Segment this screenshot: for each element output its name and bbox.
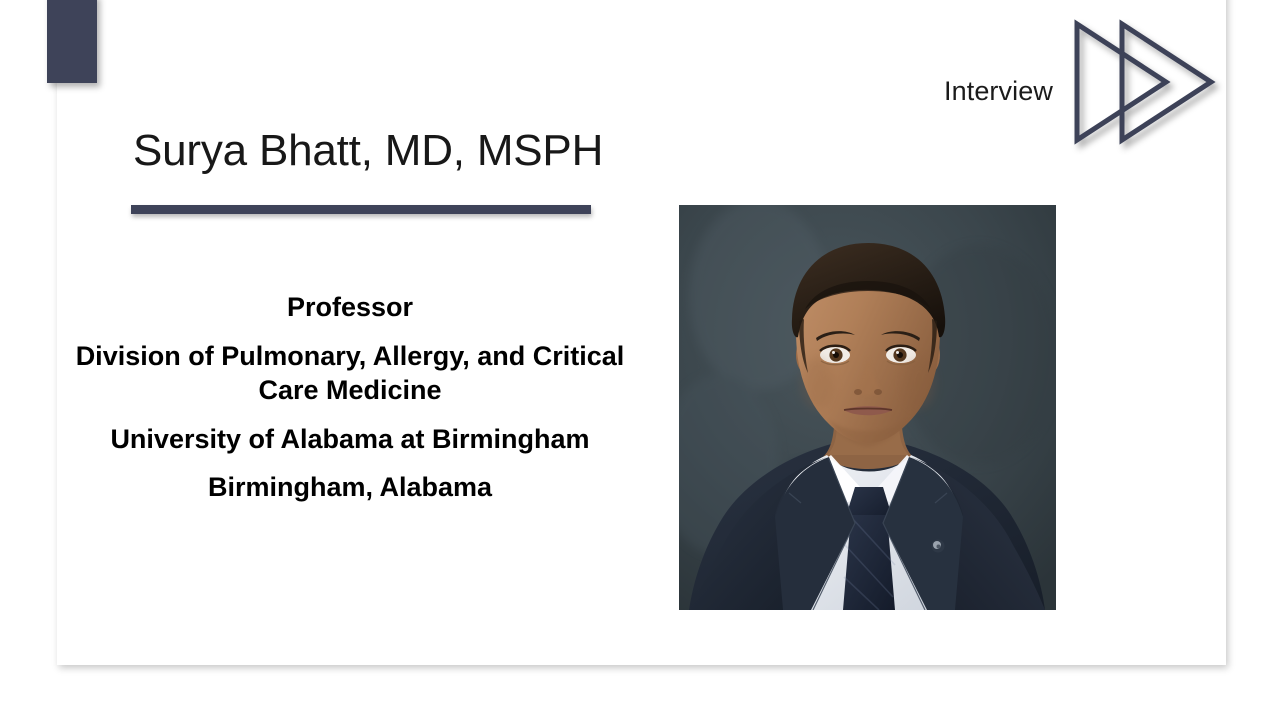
slide-root: Surya Bhatt, MD, MSPH Professor Division… [0, 0, 1280, 720]
affiliation-line-role: Professor [60, 290, 640, 325]
page-title: Surya Bhatt, MD, MSPH [133, 126, 833, 175]
speaker-portrait-photo [679, 205, 1056, 610]
affiliation-line-institution: University of Alabama at Birmingham [60, 422, 640, 457]
interview-badge-label: Interview [944, 76, 1053, 107]
double-play-triangle-icon [1062, 12, 1230, 152]
accent-block [47, 0, 97, 83]
affiliation-line-division: Division of Pulmonary, Allergy, and Crit… [60, 339, 640, 408]
speaker-affiliation-block: Professor Division of Pulmonary, Allergy… [60, 290, 640, 505]
affiliation-line-location: Birmingham, Alabama [60, 470, 640, 505]
title-underline-rule [131, 205, 591, 214]
